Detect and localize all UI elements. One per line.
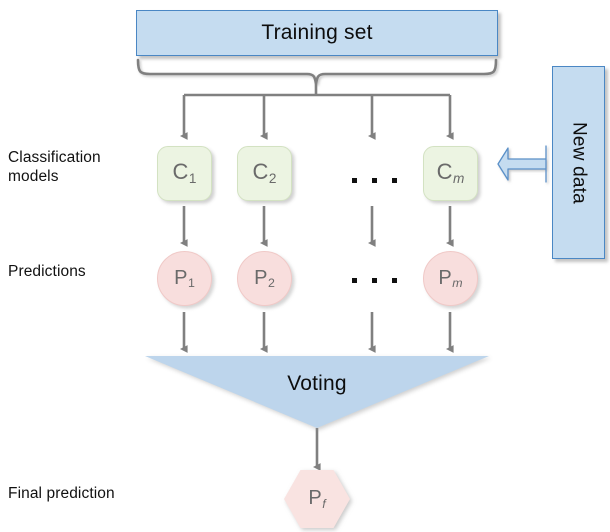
prediction-1: P1 <box>157 251 212 306</box>
prediction-m-glyph: Pm <box>438 268 462 290</box>
prediction-m: Pm <box>423 251 478 306</box>
classification-model-1: C1 <box>157 146 212 201</box>
model-m-glyph: Cm <box>437 161 465 185</box>
new-data-banner: New data <box>552 66 605 259</box>
prediction-2: P2 <box>237 251 292 306</box>
left-block-arrow-icon <box>498 146 546 182</box>
row-label-classification-models: Classification models <box>8 148 133 186</box>
new-data-label: New data <box>568 122 590 204</box>
down-arrow-icon <box>184 312 450 349</box>
classification-model-2: C2 <box>237 146 292 201</box>
ellipsis-dot <box>392 178 397 183</box>
final-prediction-node: Pf <box>284 470 350 528</box>
training-set-banner: Training set <box>136 10 498 56</box>
down-arrow-icon <box>184 95 450 136</box>
ellipsis-dot <box>392 278 397 283</box>
prediction-1-glyph: P1 <box>174 268 195 290</box>
down-arrow-icon <box>184 206 450 243</box>
prediction-2-glyph: P2 <box>254 268 275 290</box>
ellipsis-dot <box>352 178 357 183</box>
model-1-glyph: C1 <box>173 161 197 185</box>
models-ellipsis <box>352 178 397 183</box>
curly-brace-icon <box>138 60 496 84</box>
training-set-label: Training set <box>261 21 372 45</box>
ellipsis-dot <box>372 278 377 283</box>
ellipsis-dot <box>352 278 357 283</box>
row-label-predictions: Predictions <box>8 262 138 281</box>
voting-funnel: Voting <box>145 356 489 428</box>
voting-label: Voting <box>145 372 489 396</box>
final-prediction-glyph: Pf <box>308 488 325 510</box>
ellipsis-dot <box>372 178 377 183</box>
classification-model-m: Cm <box>423 146 478 201</box>
predictions-ellipsis <box>352 278 397 283</box>
model-2-glyph: C2 <box>253 161 277 185</box>
row-label-final-prediction: Final prediction <box>8 484 168 503</box>
